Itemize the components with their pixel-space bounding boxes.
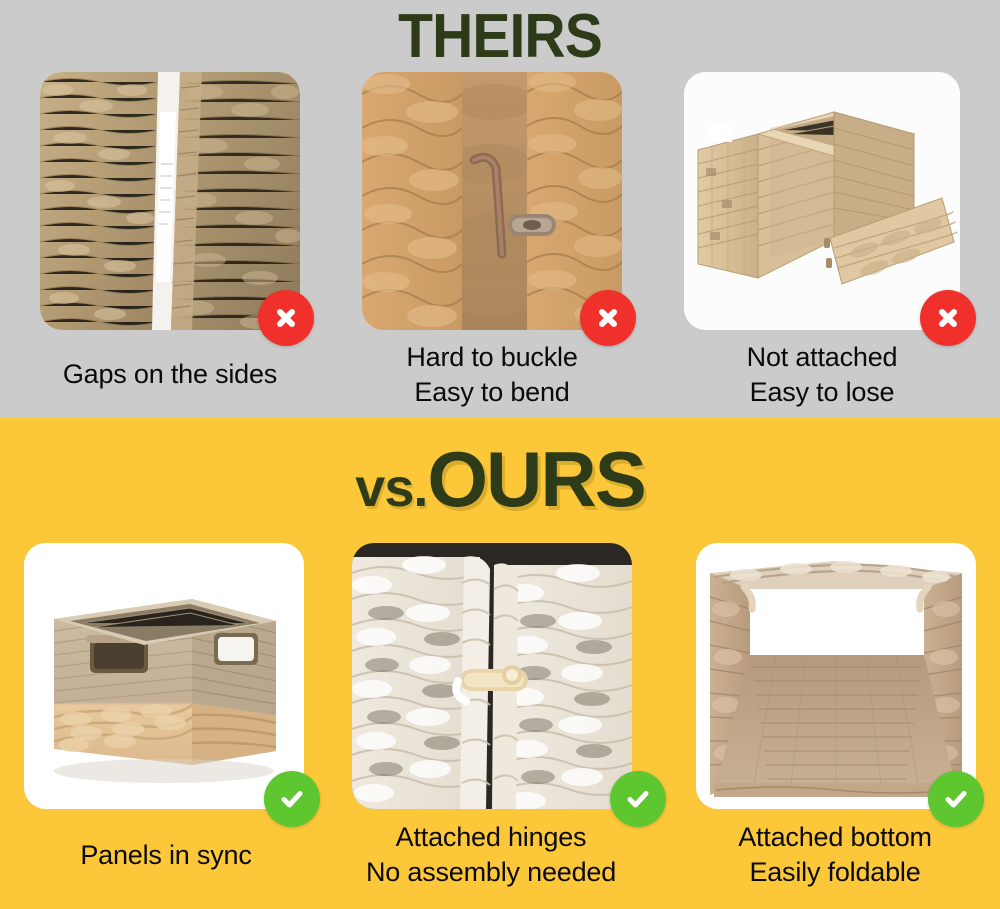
ours-heading-main: OURS xyxy=(427,435,644,523)
check-icon xyxy=(928,771,984,827)
ours-card-1[interactable] xyxy=(24,543,304,809)
basket-with-detached-bottom-panel xyxy=(684,72,960,330)
cross-icon xyxy=(258,290,314,346)
assembled-seagrass-storage-basket xyxy=(24,543,304,809)
basket-interior-attached-woven-bottom xyxy=(696,543,976,809)
ours-heading: vs.OURS xyxy=(0,440,1000,518)
cross-icon xyxy=(580,290,636,346)
ours-caption-2: Attached hinges No assembly needed xyxy=(346,820,636,889)
ours-caption-1: Panels in sync xyxy=(24,838,308,873)
ours-card-3[interactable] xyxy=(696,543,976,809)
theirs-card-2[interactable] xyxy=(362,72,622,330)
theirs-card-1[interactable] xyxy=(40,72,300,330)
ours-heading-prefix: vs. xyxy=(355,458,427,518)
theirs-card-3[interactable] xyxy=(684,72,960,330)
woven-basket-panel-gap-closeup xyxy=(40,72,300,330)
theirs-heading: THEIRS xyxy=(40,4,960,69)
check-icon xyxy=(610,771,666,827)
theirs-caption-2: Hard to buckle Easy to bend xyxy=(352,340,632,409)
cross-icon xyxy=(920,290,976,346)
metal-hook-buckle-closeup xyxy=(362,72,622,330)
white-woven-basket-wooden-hinge-closeup xyxy=(352,543,632,809)
ours-card-2[interactable] xyxy=(352,543,632,809)
check-icon xyxy=(264,771,320,827)
theirs-caption-3: Not attached Easy to lose xyxy=(680,340,964,409)
ours-caption-3: Attached bottom Easily foldable xyxy=(690,820,980,889)
theirs-caption-1: Gaps on the sides xyxy=(30,357,310,392)
